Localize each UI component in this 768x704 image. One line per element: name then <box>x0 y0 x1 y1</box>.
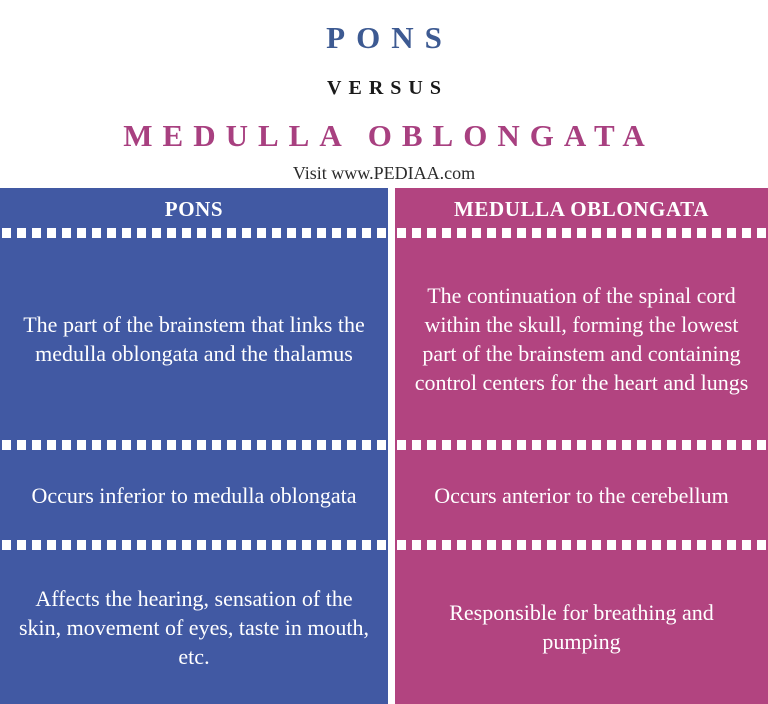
table-cell-medulla-function: Responsible for breathing and pumping <box>395 550 768 704</box>
column-header-pons: PONS <box>0 188 388 228</box>
column-pons: PONS The part of the brainstem that link… <box>0 188 388 704</box>
column-header-medulla-oblongata: MEDULLA OBLONGATA <box>395 188 768 228</box>
table-cell-medulla-location: Occurs anterior to the cerebellum <box>395 450 768 540</box>
comparison-table: PONS The part of the brainstem that link… <box>0 188 768 704</box>
table-cell-medulla-definition: The continuation of the spinal cord with… <box>395 238 768 440</box>
infographic-page: PONS VERSUS MEDULLA OBLONGATA Visit www.… <box>0 0 768 704</box>
dashed-separator <box>395 440 768 450</box>
column-divider <box>388 188 395 704</box>
table-cell-pons-location: Occurs inferior to medulla oblongata <box>0 450 388 540</box>
dashed-separator <box>395 228 768 238</box>
dashed-separator <box>0 540 388 550</box>
header: PONS VERSUS MEDULLA OBLONGATA Visit www.… <box>0 0 768 188</box>
table-cell-pons-function: Affects the hearing, sensation of the sk… <box>0 550 388 704</box>
dashed-separator <box>395 540 768 550</box>
page-title-versus: VERSUS <box>320 78 448 98</box>
column-medulla-oblongata: MEDULLA OBLONGATA The continuation of th… <box>395 188 768 704</box>
table-cell-pons-definition: The part of the brainstem that links the… <box>0 238 388 440</box>
source-website-label: Visit www.PEDIAA.com <box>293 164 475 182</box>
dashed-separator <box>0 440 388 450</box>
page-title-medulla-oblongata: MEDULLA OBLONGATA <box>113 120 654 151</box>
dashed-separator <box>0 228 388 238</box>
page-title-pons: PONS <box>315 22 453 53</box>
